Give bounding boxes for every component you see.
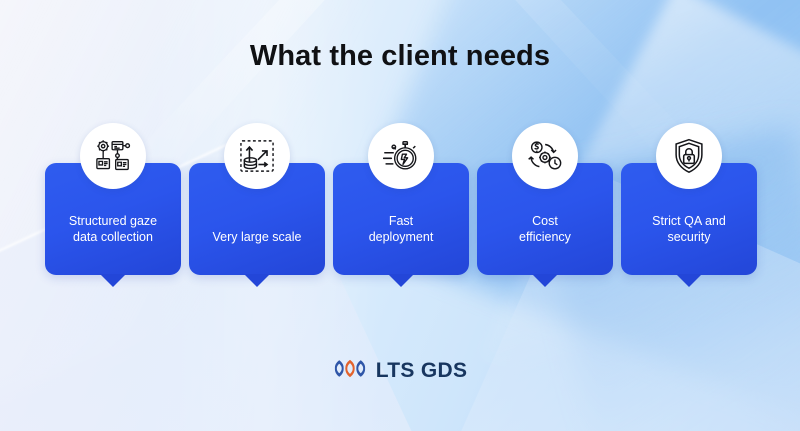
need-card-label: Structured gaze data collection bbox=[61, 213, 165, 275]
shield-lock-icon bbox=[656, 123, 722, 189]
cost-cycle-gear-clock-icon bbox=[512, 123, 578, 189]
lts-gds-mark-icon bbox=[333, 355, 367, 387]
need-card-label: Very large scale bbox=[205, 229, 310, 275]
need-card-strict-qa-and-security[interactable]: Strict QA and security bbox=[621, 163, 757, 275]
slide-title: What the client needs bbox=[0, 40, 800, 73]
database-scale-arrows-icon bbox=[224, 123, 290, 189]
need-card-label: Strict QA and security bbox=[644, 213, 734, 275]
need-card-label: Cost efficiency bbox=[511, 213, 579, 275]
needs-card-row: Structured gaze data collection Very bbox=[45, 163, 757, 275]
workflow-diagram-icon bbox=[80, 123, 146, 189]
slide-canvas: What the client needs bbox=[0, 0, 800, 431]
logo-text: LTS GDS bbox=[376, 359, 468, 383]
need-card-fast-deployment[interactable]: Fast deployment bbox=[333, 163, 469, 275]
need-card-label: Fast deployment bbox=[361, 213, 442, 275]
brand-logo: LTS GDS bbox=[0, 355, 800, 387]
stopwatch-lightning-icon bbox=[368, 123, 434, 189]
need-card-cost-efficiency[interactable]: Cost efficiency bbox=[477, 163, 613, 275]
need-card-very-large-scale[interactable]: Very large scale bbox=[189, 163, 325, 275]
need-card-structured-gaze-data-collection[interactable]: Structured gaze data collection bbox=[45, 163, 181, 275]
